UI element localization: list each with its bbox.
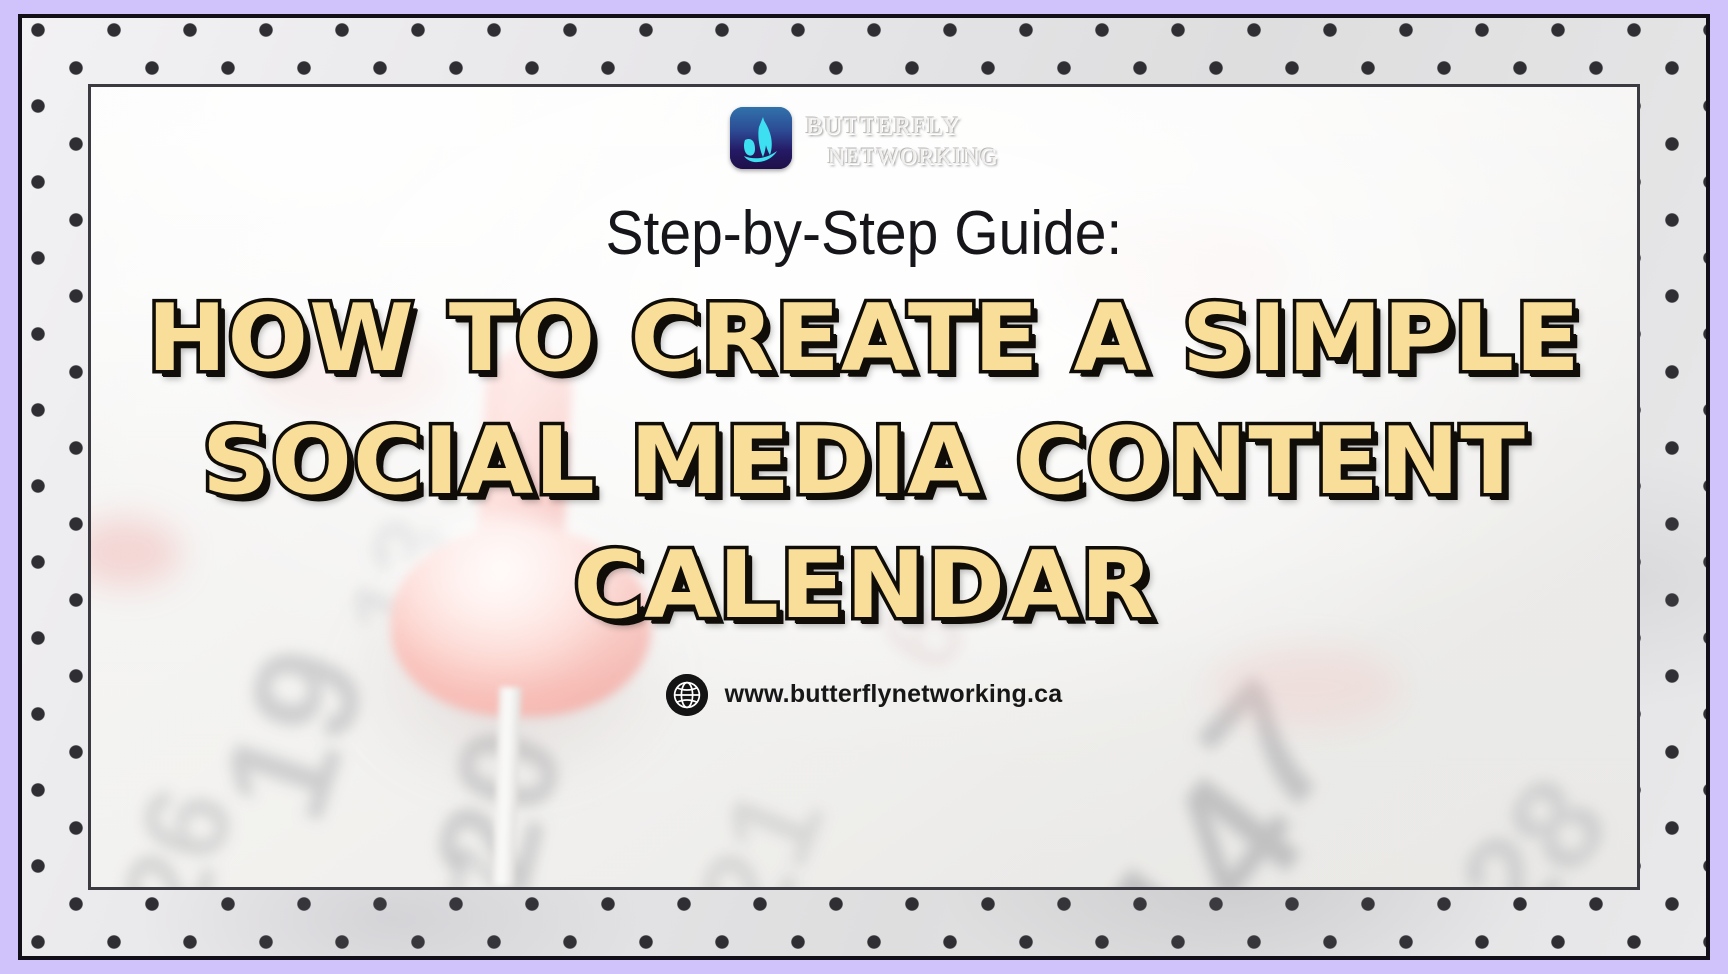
eyebrow-text: Step-by-Step Guide: — [606, 198, 1123, 269]
brand-lockup: Butterfly Networking — [730, 107, 999, 170]
website-url: www.butterflynetworking.ca — [725, 680, 1063, 709]
brand-name-line1: Butterfly — [806, 107, 999, 139]
photo-panel: 26 19 13 20 27 21 6 7 14 28 — [88, 84, 1640, 890]
headline-line-3: Calendar — [88, 524, 1640, 648]
poster-canvas: 26 19 13 20 27 21 6 7 14 28 — [0, 0, 1728, 974]
brand-name-line2: Networking — [806, 139, 999, 169]
butterfly-sail-logo-icon — [730, 107, 792, 169]
headline-line-2: Social Media Content — [88, 400, 1640, 524]
website-footer: www.butterflynetworking.ca — [666, 674, 1063, 716]
brand-wordmark: Butterfly Networking — [806, 107, 999, 170]
headline-block: How to Create a Simple Social Media Cont… — [91, 277, 1637, 648]
globe-icon — [666, 674, 708, 716]
headline-line-1: How to Create a Simple — [88, 277, 1640, 401]
